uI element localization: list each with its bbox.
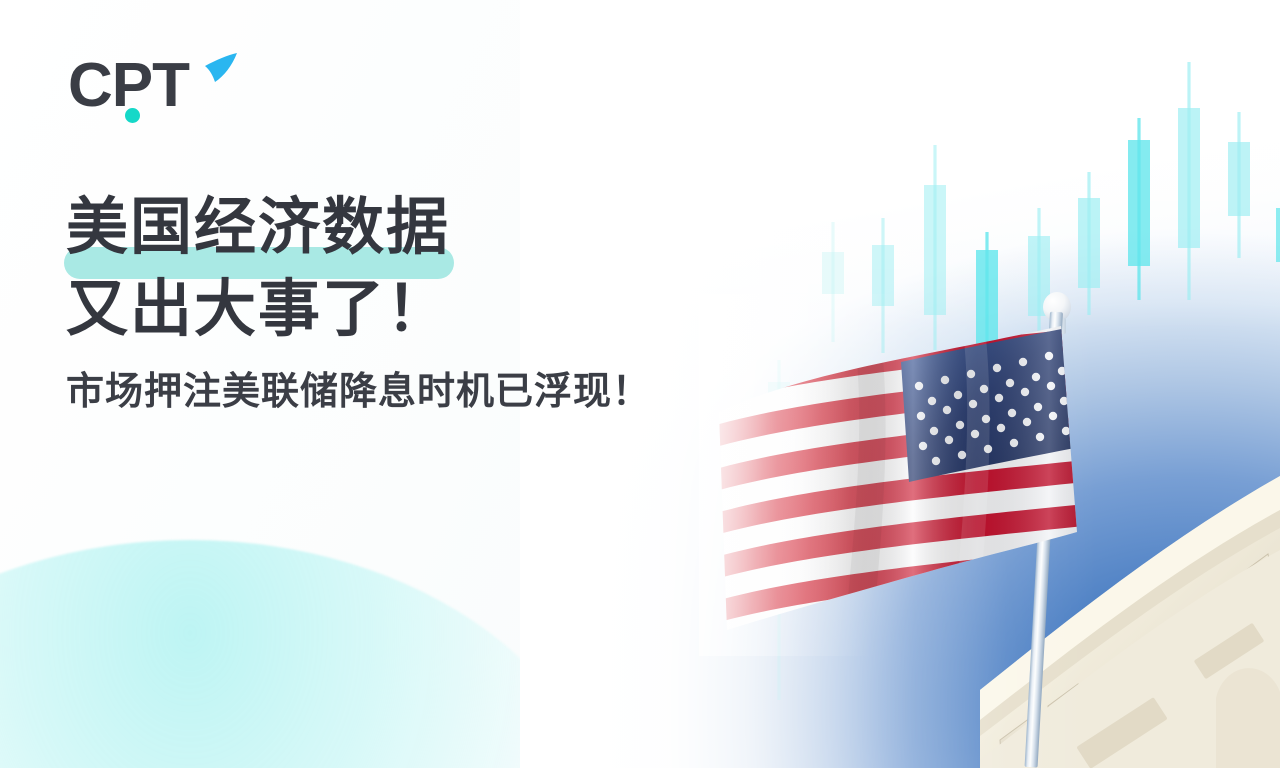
paper-plane-icon (194, 46, 242, 94)
teal-dot-icon (125, 108, 140, 123)
cpt-logo[interactable]: CPT (68, 55, 248, 135)
candle-body (1078, 198, 1100, 288)
subheadline: 市场押注美联储降息时机已浮现！ (66, 368, 651, 417)
headline-line-1-wrap: 美国经济数据 (66, 190, 766, 266)
headline-line-2: 又出大事了！ (66, 270, 766, 349)
candle-body (1228, 142, 1250, 216)
candle-body (924, 185, 946, 315)
candle-body (1128, 140, 1150, 266)
promo-banner: CPT 美国经济数据 又出大事了！ 市场押注美联储降息时机已浮现！ (0, 0, 1280, 768)
candle-body (1276, 208, 1280, 262)
headline-line-1: 美国经济数据 (66, 190, 766, 266)
headline-block: 美国经济数据 又出大事了！ (66, 190, 766, 349)
candle-body (872, 245, 894, 306)
us-flag-image (705, 300, 1105, 650)
candle-body (1178, 108, 1200, 248)
candle-body (822, 252, 844, 294)
